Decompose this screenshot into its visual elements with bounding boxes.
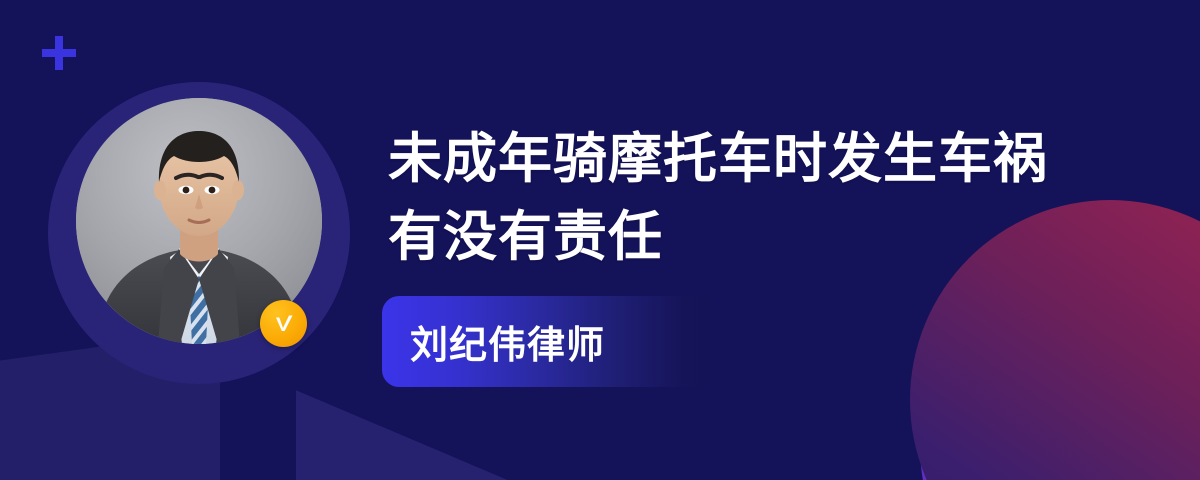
verified-check-icon [260, 300, 307, 347]
headline-block: 未成年骑摩托车时发生车祸有没有责任 [388, 120, 1088, 276]
avatar [48, 82, 350, 384]
page-title: 未成年骑摩托车时发生车祸有没有责任 [388, 120, 1088, 276]
plus-icon-vertical-bar [55, 36, 63, 70]
lawyer-name-label: 刘纪伟律师 [382, 314, 605, 369]
plus-icon-horizontal-bar [42, 49, 76, 57]
promo-banner: 未成年骑摩托车时发生车祸有没有责任 刘纪伟律师 [0, 0, 1200, 480]
plus-icon [42, 36, 76, 70]
lawyer-name-badge[interactable]: 刘纪伟律师 [382, 296, 722, 387]
